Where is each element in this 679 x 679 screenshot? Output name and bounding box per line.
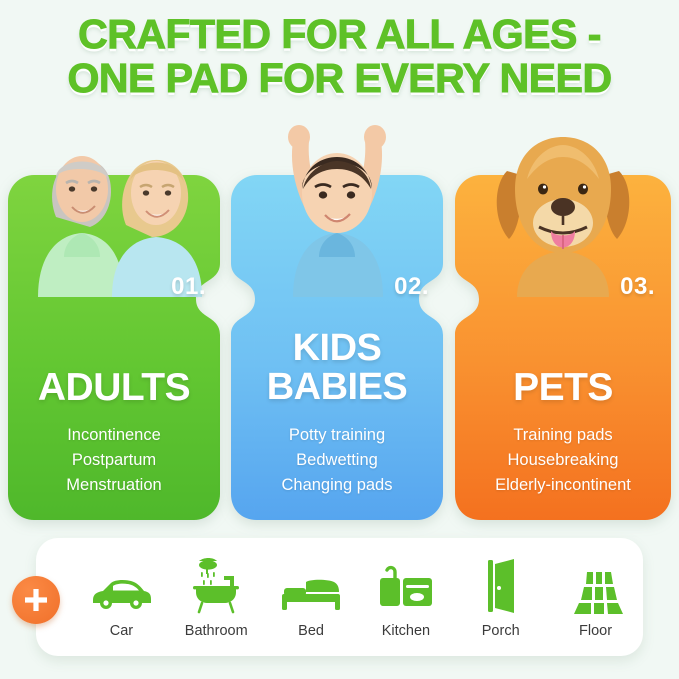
- usage-item-label: Porch: [482, 623, 520, 639]
- card-feature: Changing pads: [239, 473, 435, 498]
- card-body: KIDS BABIES Potty training Bedwetting Ch…: [231, 329, 443, 520]
- card-feature: Incontinence: [16, 423, 212, 448]
- floor-planks-icon: [567, 556, 625, 614]
- audience-card-kids-babies[interactable]: 02. KIDS BABIES Potty training Bedwettin…: [231, 175, 443, 520]
- usage-item-bed[interactable]: Bed: [266, 556, 356, 639]
- card-feature: Menstruation: [16, 473, 212, 498]
- usage-item-porch[interactable]: Porch: [456, 556, 546, 639]
- usage-item-label: Car: [110, 623, 133, 639]
- usage-icon-row: Car: [74, 538, 643, 656]
- card-feature: Postpartum: [16, 448, 212, 473]
- usage-item-label: Floor: [579, 623, 612, 639]
- usage-item-floor[interactable]: Floor: [551, 556, 641, 639]
- card-number-badge: 01.: [171, 273, 206, 301]
- usage-item-label: Bathroom: [185, 623, 248, 639]
- bathtub-shower-icon: [190, 556, 242, 614]
- card-feature: Potty training: [239, 423, 435, 448]
- bed-icon: [280, 556, 342, 614]
- door-icon: [481, 556, 521, 614]
- usage-item-car[interactable]: Car: [76, 556, 166, 639]
- card-feature: Elderly-incontinent: [463, 473, 663, 498]
- card-title: KIDS BABIES: [239, 329, 435, 407]
- audience-card-pets[interactable]: 03. PETS Training pads Housebreaking Eld…: [455, 175, 671, 520]
- card-body: PETS Training pads Housebreaking Elderly…: [455, 369, 671, 520]
- card-number-badge: 03.: [620, 273, 655, 301]
- usage-item-label: Bed: [298, 623, 324, 639]
- audience-card-adults[interactable]: 01. ADULTS Incontinence Postpartum Menst…: [8, 175, 220, 520]
- usage-item-label: Kitchen: [382, 623, 430, 639]
- usage-item-bathroom[interactable]: Bathroom: [171, 556, 261, 639]
- card-feature: Bedwetting: [239, 448, 435, 473]
- card-body: ADULTS Incontinence Postpartum Menstruat…: [8, 369, 220, 520]
- card-number-badge: 02.: [394, 273, 429, 301]
- card-title: PETS: [463, 369, 663, 407]
- card-title-line-1: PETS: [463, 369, 663, 407]
- card-title-line-2: BABIES: [239, 368, 435, 407]
- card-feature: Training pads: [463, 423, 663, 448]
- usage-item-kitchen[interactable]: Kitchen: [361, 556, 451, 639]
- plus-icon: [12, 576, 60, 624]
- kitchen-sink-icon: [377, 556, 435, 614]
- card-title: ADULTS: [16, 369, 212, 407]
- car-icon: [89, 556, 153, 614]
- card-title-line-1: KIDS: [239, 329, 435, 368]
- card-title-line-1: ADULTS: [16, 369, 212, 407]
- card-feature: Housebreaking: [463, 448, 663, 473]
- infographic-root: CRAFTED FOR ALL AGES - ONE PAD FOR EVERY…: [0, 0, 679, 679]
